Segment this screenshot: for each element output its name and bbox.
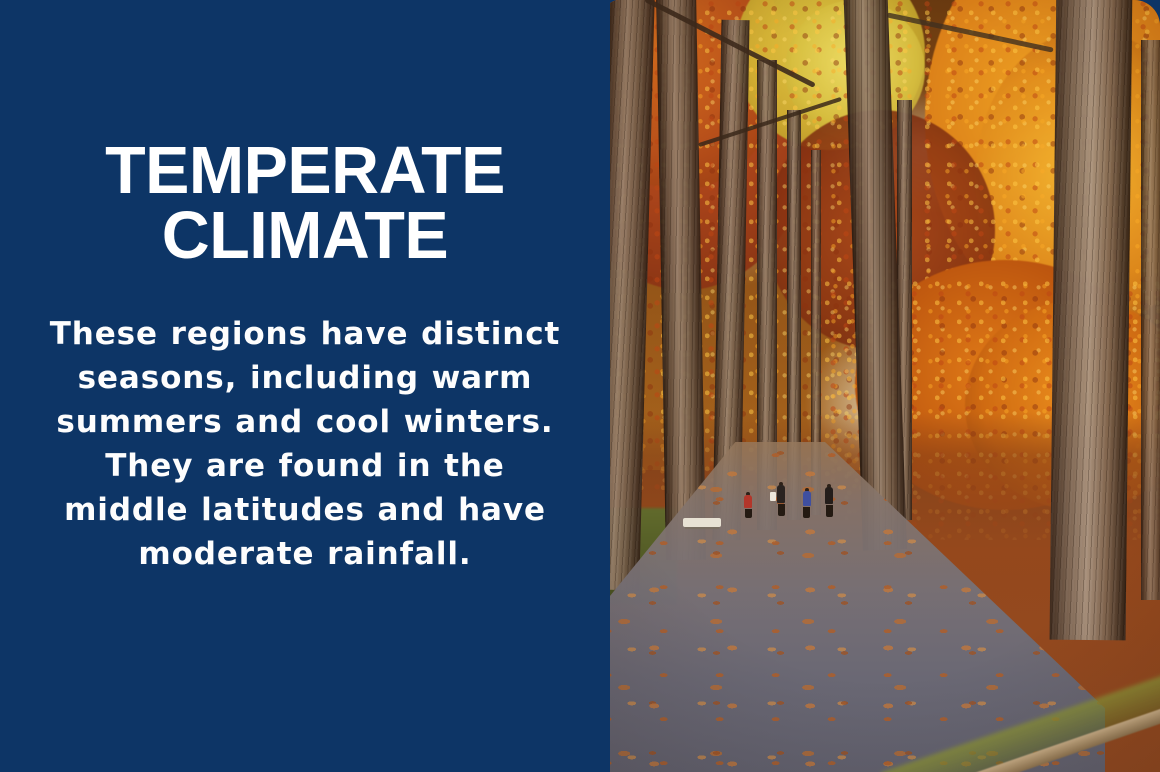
person-torso — [825, 487, 833, 504]
person-legs — [778, 504, 785, 516]
park-bench — [683, 518, 721, 527]
person-legs — [803, 507, 810, 518]
person-legs — [826, 505, 833, 517]
photo-stage — [605, 0, 1160, 772]
person-torso — [803, 491, 811, 506]
body-line-6: moderate rainfall. — [18, 532, 592, 576]
page-title-line-2: CLIMATE — [33, 203, 578, 268]
person-legs — [745, 509, 752, 518]
tree-trunk-foreground — [1050, 0, 1133, 640]
person-walking-blue — [801, 488, 812, 518]
text-panel: TEMPERATE CLIMATE These regions have dis… — [0, 0, 610, 772]
page-title: TEMPERATE CLIMATE — [3, 138, 607, 268]
body-line-1: These regions have distinct — [18, 312, 592, 356]
person-walking-dark — [823, 484, 835, 517]
person-torso — [744, 495, 752, 508]
body-line-5: middle latitudes and have — [18, 488, 592, 532]
person-walking-red — [743, 492, 753, 518]
body-line-2: seasons, including warm — [18, 356, 592, 400]
panel-seam — [603, 0, 607, 772]
body-paragraph: These regions have distinct seasons, inc… — [0, 312, 610, 576]
shopping-bag — [770, 492, 776, 501]
tree-trunk — [1141, 40, 1160, 600]
person-torso — [777, 485, 785, 503]
autumn-avenue-photo — [605, 0, 1160, 772]
person-walking-dark-with-bag — [775, 482, 787, 516]
slide-root: TEMPERATE CLIMATE These regions have dis… — [0, 0, 1160, 772]
body-line-3: summers and cool winters. — [18, 400, 592, 444]
body-line-4: They are found in the — [18, 444, 592, 488]
page-title-line-1: TEMPERATE — [33, 138, 578, 203]
